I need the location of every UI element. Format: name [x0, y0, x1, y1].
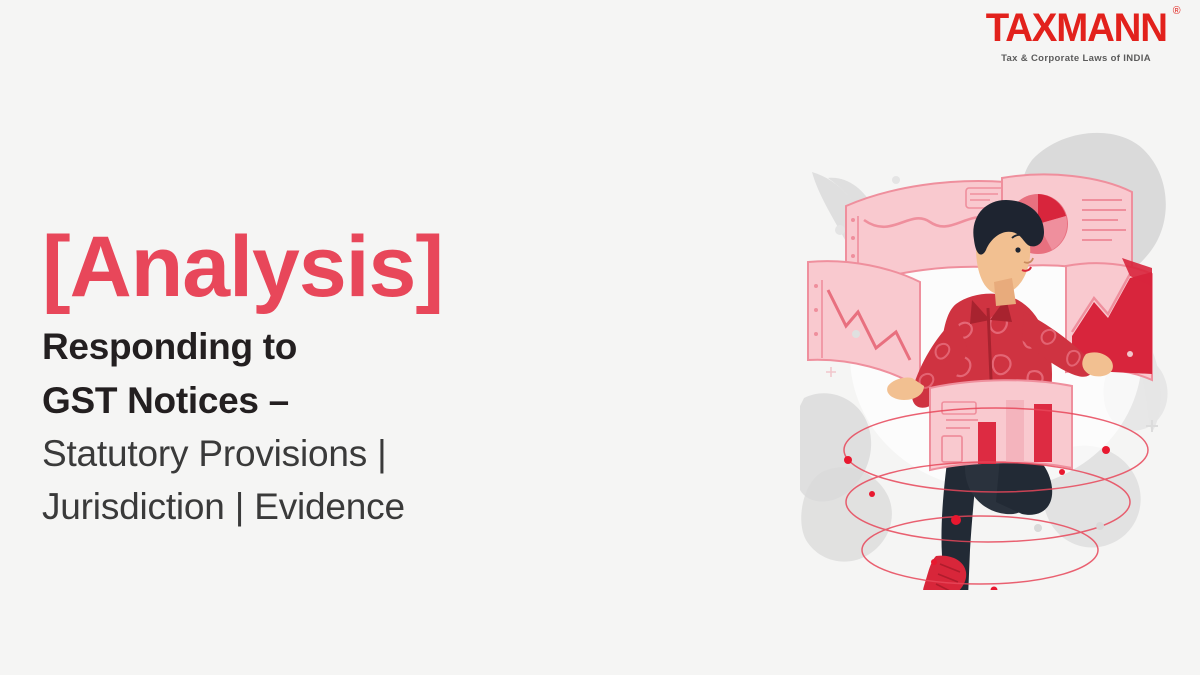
registered-trademark-icon: ® — [1172, 6, 1179, 17]
text-block: [Analysis] Responding to GST Notices – S… — [42, 222, 682, 533]
banner-root: TAXMANN ® Tax & Corporate Laws of INDIA … — [0, 0, 1200, 675]
subtitle-line-2: GST Notices – — [42, 374, 682, 427]
logo-tagline: Tax & Corporate Laws of INDIA — [976, 54, 1176, 64]
orbit-ring-lower — [862, 516, 1098, 584]
taxmann-logo: TAXMANN ® Tax & Corporate Laws of INDIA — [976, 8, 1176, 64]
logo-wordmark: TAXMANN ® — [985, 8, 1166, 48]
panel-bar-chart-bottom — [930, 380, 1072, 470]
hero-illustration — [800, 120, 1190, 590]
subtitle-line-3: Statutory Provisions | — [42, 427, 682, 480]
page-title: [Analysis] — [42, 222, 682, 312]
subtitle-line-4: Jurisdiction | Evidence — [42, 480, 682, 533]
subtitle-line-1: Responding to — [42, 320, 682, 373]
logo-wordmark-text: TAXMANN — [985, 6, 1166, 50]
